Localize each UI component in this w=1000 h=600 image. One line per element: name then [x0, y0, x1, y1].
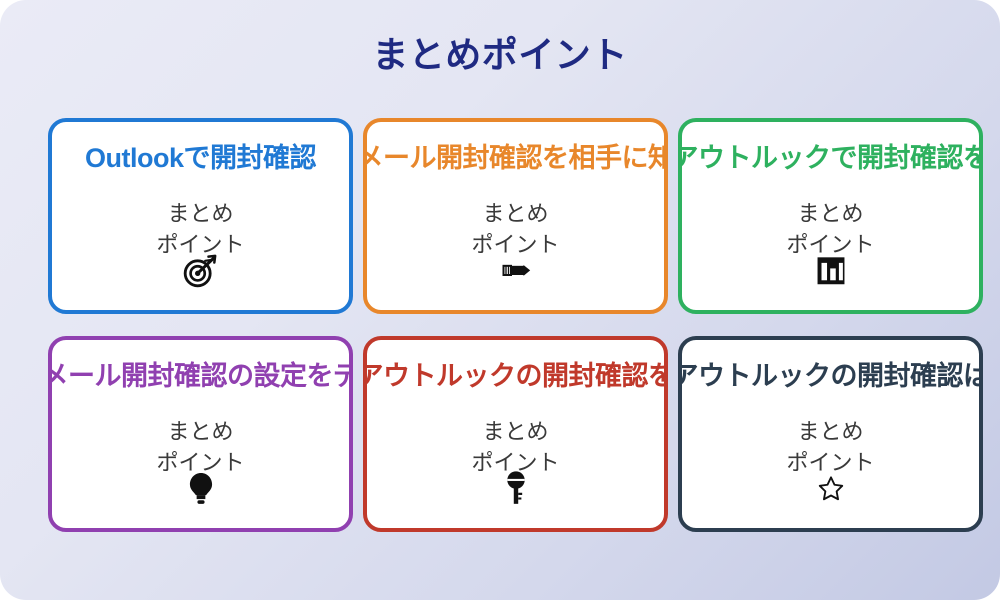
summary-card-title: アウトルックで開封確認を — [678, 144, 983, 174]
summary-card-title: メール開封確認の設定をデ — [48, 362, 353, 392]
summary-card-title: アウトルックの開封確認は — [678, 362, 983, 392]
bar-chart-icon — [809, 248, 853, 292]
star-icon — [809, 466, 853, 510]
summary-card[interactable]: アウトルックで開封確認を まとめ ポイント — [678, 118, 983, 314]
key-icon — [494, 466, 538, 510]
summary-card[interactable]: メール開封確認の設定をデ まとめ ポイント — [48, 336, 353, 532]
slide-canvas: まとめポイント Outlookで開封確認 まとめ ポイント メール開封確認を相手… — [0, 0, 1000, 600]
summary-card[interactable]: Outlookで開封確認 まとめ ポイント — [48, 118, 353, 314]
summary-card-title: アウトルックの開封確認を — [363, 362, 668, 392]
summary-card-title: Outlookで開封確認 — [85, 144, 316, 174]
summary-point-card-grid: Outlookで開封確認 まとめ ポイント メール開封確認を相手に知 まとめ ポ… — [48, 118, 952, 532]
lightbulb-icon — [179, 466, 223, 510]
page-title: まとめポイント — [0, 26, 1000, 78]
summary-card[interactable]: アウトルックの開封確認は まとめ ポイント — [678, 336, 983, 532]
summary-card[interactable]: アウトルックの開封確認を まとめ ポイント — [363, 336, 668, 532]
summary-card-title: メール開封確認を相手に知 — [363, 144, 668, 174]
pencil-icon — [494, 248, 538, 292]
summary-card[interactable]: メール開封確認を相手に知 まとめ ポイント — [363, 118, 668, 314]
dart-target-icon — [179, 248, 223, 292]
